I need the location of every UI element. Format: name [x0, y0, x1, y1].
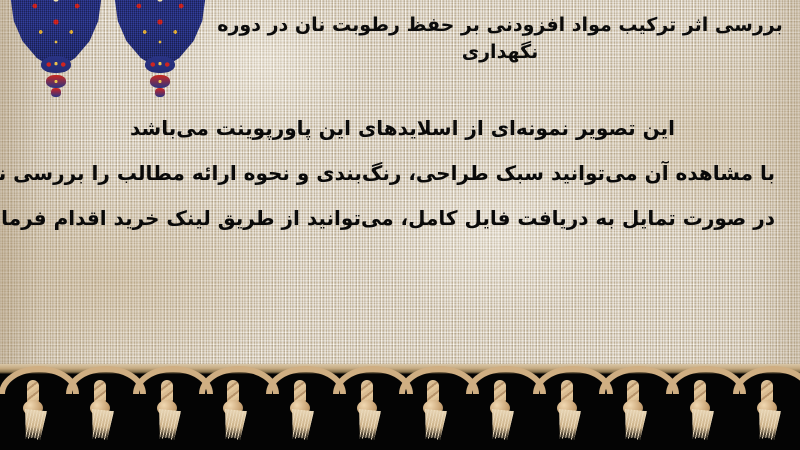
- carpet-tassel: [18, 366, 48, 440]
- carpet-tassel: [485, 366, 515, 440]
- carpet-tassel: [285, 366, 315, 440]
- tassel-threads: [689, 409, 714, 441]
- presentation-slide: بررسی اثر ترکیب مواد افزودنی بر حفظ رطوب…: [0, 0, 800, 450]
- slide-title: بررسی اثر ترکیب مواد افزودنی بر حفظ رطوب…: [215, 12, 785, 66]
- tassel-threads: [622, 409, 647, 441]
- carpet-tassel: [352, 366, 382, 440]
- carpet-tassel: [752, 366, 782, 440]
- carpet-tassel: [85, 366, 115, 440]
- tassel-threads: [756, 409, 781, 441]
- carpet-tassel: [618, 366, 648, 440]
- tassel-threads: [289, 409, 314, 441]
- tassel-threads: [222, 409, 247, 441]
- carpet-tassel: [152, 366, 182, 440]
- tassel-threads: [556, 409, 581, 441]
- tassel-threads: [89, 409, 114, 441]
- slide-body-text: این تصویر نمونه‌ای از اسلایدهای این پاور…: [30, 106, 775, 241]
- carpet-tassel: [218, 366, 248, 440]
- tassel-threads: [156, 409, 181, 441]
- body-line-3: در صورت تمایل به دریافت فایل کامل، می‌تو…: [30, 196, 775, 241]
- body-line-1: این تصویر نمونه‌ای از اسلایدهای این پاور…: [30, 106, 775, 151]
- carpet-tassel: [685, 366, 715, 440]
- carpet-tassel: [418, 366, 448, 440]
- bottom-black-band: [0, 364, 800, 450]
- tassel-threads: [422, 409, 447, 441]
- tassel-threads: [356, 409, 381, 441]
- carpet-tassel: [552, 366, 582, 440]
- carpet-fringe-row: [0, 366, 800, 450]
- body-line-2: با مشاهده آن می‌توانید سبک طراحی، رنگ‌بن…: [30, 151, 775, 196]
- tassel-threads: [489, 409, 514, 441]
- tassel-threads: [22, 409, 47, 441]
